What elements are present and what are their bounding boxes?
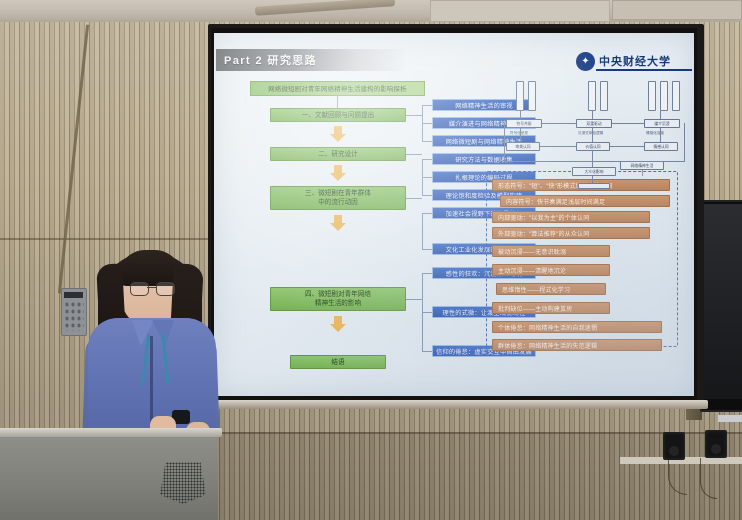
connector — [422, 123, 432, 124]
down-arrow-icon — [330, 316, 346, 332]
connector — [422, 213, 423, 249]
down-arrow-icon — [330, 126, 346, 142]
university-name: 中央财经大学 — [599, 53, 671, 69]
slide-part-label: Part 2 研究思路 — [216, 52, 317, 68]
connector — [520, 111, 521, 119]
speaker-right — [705, 430, 727, 458]
flow-edge-label: 沉浸式体验逻辑 — [578, 131, 603, 136]
flow-node — [578, 183, 610, 189]
connector — [612, 123, 644, 124]
flow-vertical-label — [516, 81, 524, 111]
connector — [422, 177, 432, 178]
flow-node: 价值认同 — [576, 142, 610, 151]
speaker-cone-icon — [669, 446, 679, 456]
presenter — [60, 240, 240, 450]
finding-box[interactable]: 个体倦怠：网络精神生活的自我迷惘 — [492, 321, 662, 333]
connector — [504, 123, 505, 161]
flow-vertical-label — [588, 81, 596, 111]
slide-main-title: 网络微短剧对青年网络精神生活建构的影响探析 — [250, 81, 425, 96]
connector — [422, 312, 432, 313]
connector — [406, 198, 422, 199]
glasses-bridge — [147, 287, 156, 288]
section-box-1[interactable]: 一、文献回顾与问题提出 — [270, 108, 406, 122]
flow-node: 符号共振 — [506, 119, 542, 128]
connector — [337, 96, 338, 108]
connector — [422, 159, 432, 160]
connector — [610, 146, 644, 147]
flow-node: 情感认同 — [644, 142, 678, 151]
down-arrow-icon — [330, 215, 346, 231]
flow-vertical-label — [600, 81, 608, 111]
connector — [592, 176, 593, 183]
connector — [422, 273, 432, 274]
projection-screen: Part 2 研究思路 ✦ 中央财经大学 网络微短剧对青年网络精神生活建构的影响… — [214, 33, 694, 396]
finding-box[interactable]: 被动沉浸——无意识耽溺 — [492, 245, 610, 257]
slide-part-bar: Part 2 研究思路 — [216, 49, 356, 71]
wall-display-screen — [703, 204, 742, 399]
connector — [406, 299, 422, 300]
university-crest-icon: ✦ — [576, 52, 595, 71]
finding-box[interactable]: 内容符号：快节奏满足浅层时间满足 — [500, 195, 670, 207]
connector — [660, 128, 661, 142]
display-brand-badge — [718, 415, 742, 422]
part-bar-gradient — [356, 49, 406, 71]
lecture-hall-photo: Part 2 研究思路 ✦ 中央财经大学 网络微短剧对青年网络精神生活建构的影响… — [0, 0, 742, 520]
finding-box[interactable]: 思维惰性——程式化学习 — [496, 283, 606, 295]
connector — [660, 111, 661, 119]
connector — [422, 213, 432, 214]
finding-box[interactable]: 主动沉浸——清醒地沉沦 — [492, 264, 610, 276]
presentation-slide: Part 2 研究思路 ✦ 中央财经大学 网络微短剧对青年网络精神生活建构的影响… — [214, 33, 694, 396]
ceiling-tile — [430, 0, 610, 22]
flow-edge-label: 符号化呈现 — [510, 131, 528, 136]
research-flow-diagram: 符号共振 双重驱动 媒介沉浸 符号化呈现 沉浸式体验逻辑 情感化连接 审美认同 … — [504, 77, 692, 185]
connector — [422, 105, 432, 106]
connector — [422, 351, 432, 352]
speaker-cone-icon — [711, 444, 721, 454]
shirt-placket — [150, 336, 153, 428]
connector — [592, 151, 593, 167]
connector — [422, 195, 432, 196]
podium-top-surface — [0, 428, 222, 437]
flow-node: 大众化影响 — [572, 167, 616, 176]
connector — [406, 154, 422, 155]
finding-box[interactable]: 内部驱动："以我为主"的个体认同 — [492, 211, 650, 223]
connector — [520, 128, 521, 142]
section-box-5[interactable]: 结语 — [290, 355, 386, 369]
connector — [592, 128, 593, 142]
section-box-2[interactable]: 二、研究设计 — [270, 147, 406, 161]
flow-node: 媒介沉浸 — [644, 119, 680, 128]
section-box-4[interactable]: 四、微短剧对青年网络 精神生活的影响 — [270, 287, 406, 311]
flow-vertical-label — [648, 81, 656, 111]
lens-left — [130, 282, 149, 296]
connector — [422, 249, 432, 250]
connector — [684, 123, 685, 161]
flow-vertical-label — [672, 81, 680, 111]
speaker-left — [663, 432, 685, 460]
flow-node: 双重驱动 — [576, 119, 612, 128]
connector — [504, 161, 685, 162]
finding-box[interactable]: 群体倦怠：网络精神生活的失范逻辑 — [492, 339, 662, 351]
flow-vertical-label — [528, 81, 536, 111]
down-arrow-icon — [330, 165, 346, 181]
connector — [592, 111, 593, 119]
lens-right — [156, 282, 175, 296]
connector — [542, 123, 576, 124]
connector — [422, 141, 432, 142]
ceiling-tile — [612, 0, 742, 20]
connector — [406, 115, 422, 116]
finding-box[interactable]: 批判缺位——主动构建茧房 — [492, 302, 610, 314]
flow-edge-label: 情感化连接 — [646, 131, 664, 136]
screen-tray — [206, 400, 708, 409]
connector — [540, 146, 576, 147]
glasses-icon — [130, 282, 174, 294]
section-box-3[interactable]: 三、微短剧在青年群体 中的流行动因 — [270, 186, 406, 210]
logo-underline — [596, 69, 692, 71]
flow-node: 审美认同 — [506, 142, 540, 151]
finding-box[interactable]: 外部驱动："算法推荐"的从众认同 — [492, 227, 650, 239]
flow-vertical-label — [660, 81, 668, 111]
